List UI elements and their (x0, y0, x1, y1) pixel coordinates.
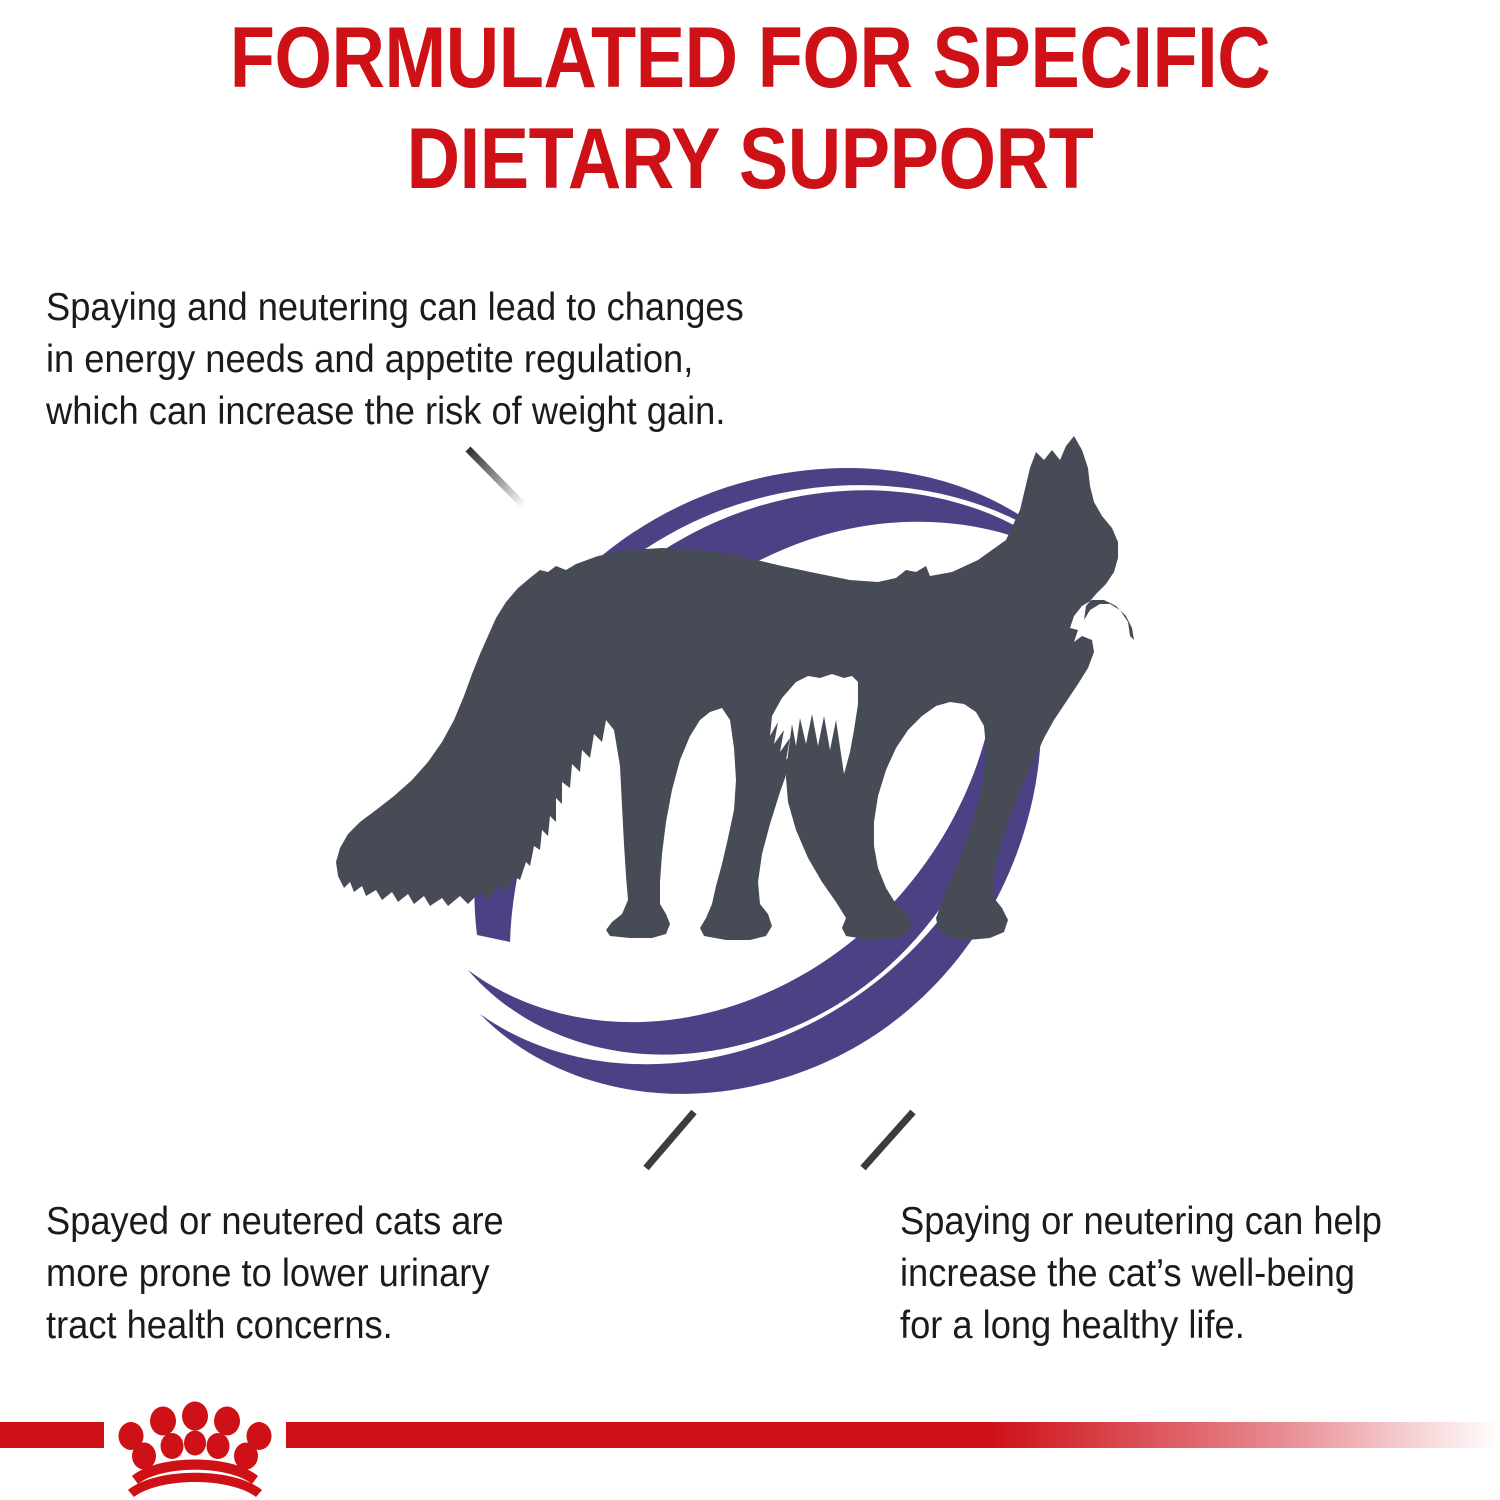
leader-line-bottom-left-diagonal (646, 1112, 694, 1168)
brand-footer (0, 1398, 1500, 1500)
footer-bar-left (0, 1422, 104, 1448)
promo-panel: FORMULATED FOR SPECIFIC DIETARY SUPPORT (0, 0, 1500, 1500)
footer-bar-right (286, 1422, 1500, 1448)
emblem-cat-in-ring (330, 430, 1150, 1120)
callout-text-bottom-right: Spaying or neutering can help increase t… (900, 1196, 1477, 1352)
page-title: FORMULATED FOR SPECIFIC DIETARY SUPPORT (105, 8, 1395, 211)
leader-line-bottom-right-diagonal (863, 1112, 913, 1168)
callout-text-bottom-left: Spayed or neutered cats are more prone t… (46, 1196, 623, 1352)
cat-silhouette-icon (336, 436, 1134, 940)
royal-canin-crown-icon (100, 1398, 290, 1498)
callout-text-top: Spaying and neutering can lead to change… (46, 282, 883, 438)
